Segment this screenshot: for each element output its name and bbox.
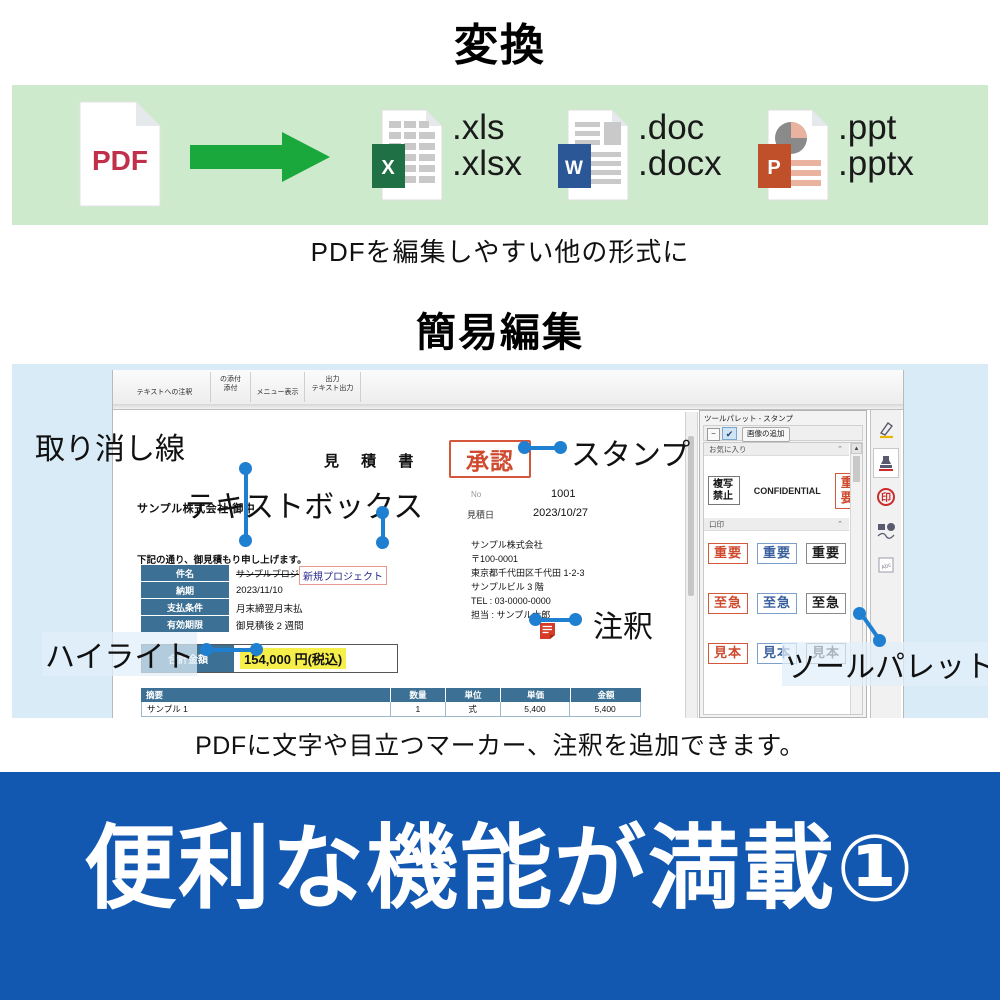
col-header-amount: 金額 xyxy=(571,688,641,702)
scrollbar-thumb[interactable] xyxy=(853,456,860,482)
scroll-up-icon[interactable]: ▲ xyxy=(851,443,862,454)
stamp-important-red[interactable]: 重要 xyxy=(708,543,748,564)
info-value: 御見積後 2 週間 xyxy=(229,617,304,633)
collapse-icon[interactable]: − xyxy=(707,428,720,441)
callout-toolpalette-label: ツールパレット xyxy=(782,642,988,686)
stamp-urgent-black[interactable]: 至急 xyxy=(806,593,846,614)
banner-text: 便利な機能が満載① xyxy=(0,812,1000,927)
svg-text:X: X xyxy=(381,157,395,179)
ribbon-group-menu[interactable]: メニュー表示 xyxy=(251,372,305,402)
info-label: 有効期限 xyxy=(141,616,229,633)
callout-textbox-dot-top xyxy=(376,506,389,519)
ribbon-group-annotate[interactable]: テキストへの注釈 xyxy=(119,372,211,402)
svg-text:P: P xyxy=(767,157,780,179)
tool-palette-toolbar[interactable]: − ✔ 画像の追加 xyxy=(703,425,863,441)
document-heading: 見 積 書 xyxy=(324,450,422,471)
callout-strikethrough-dot-bottom xyxy=(239,534,252,547)
powerpoint-file-icon: P xyxy=(758,108,832,202)
stamp-sample-red[interactable]: 見本 xyxy=(708,643,748,664)
info-label: 支払条件 xyxy=(141,599,229,616)
col-header-unit: 単位 xyxy=(446,688,501,702)
issuer-line: 東京都千代田区千代田 1-2-3 xyxy=(471,566,585,580)
issuer-line: TEL : 03-0000-0000 xyxy=(471,594,585,608)
callout-highlight-label: ハイライト xyxy=(42,632,197,676)
excel-file-icon: X xyxy=(372,108,446,202)
palette-section-label: お気に入り xyxy=(709,444,747,455)
items-table: 摘要 数量 単位 単価 金額 サンプル 1 1 式 5,400 5,400 xyxy=(141,688,641,717)
highlighter-pen-icon[interactable] xyxy=(873,414,899,444)
document-no-value: 1001 xyxy=(551,488,575,500)
word-file-icon: W xyxy=(558,108,632,202)
ribbon-label-attach-top: の添付 xyxy=(216,375,245,384)
callout-textbox-label: テキストボックス xyxy=(182,482,426,526)
callout-stamp-label: スタンプ xyxy=(568,430,693,474)
callout-stamp-dot-left xyxy=(518,441,531,454)
ext-line-2: .docx xyxy=(638,146,722,182)
cell-description: サンプル 1 xyxy=(142,702,391,716)
callout-stamp-dot-right xyxy=(554,441,567,454)
ext-line-2: .xlsx xyxy=(452,146,522,182)
items-table-header: 摘要 数量 単位 単価 金額 xyxy=(141,688,641,702)
ribbon-toolbar[interactable]: テキストへの注釈 の添付 添付 メニュー表示 出力 テキスト出力 xyxy=(113,370,903,405)
text-abc-box-icon[interactable]: Abc xyxy=(873,550,899,580)
palette-section-seal[interactable]: 口印 ⌃ xyxy=(704,518,849,531)
ribbon-group-output[interactable]: 出力 テキスト出力 xyxy=(305,372,361,402)
ext-line-1: .xls xyxy=(452,110,522,146)
callout-annotation-dot-left xyxy=(529,613,542,626)
section-convert-title: 変換 xyxy=(0,22,1000,70)
checkbox-icon[interactable]: ✔ xyxy=(722,427,737,440)
svg-text:PDF: PDF xyxy=(92,145,148,176)
doc-ext-labels: .doc .docx xyxy=(638,110,722,182)
stamp-urgent-red[interactable]: 至急 xyxy=(708,593,748,614)
section-edit-caption: PDFに文字や目立つマーカー、注釈を追加できます。 xyxy=(0,726,1000,762)
chevron-up-icon[interactable]: ⌃ xyxy=(837,520,843,528)
seal-in-circle-icon[interactable]: 印 xyxy=(873,482,899,512)
col-header-description: 摘要 xyxy=(141,688,391,702)
palette-section-label: 口印 xyxy=(709,519,724,530)
callout-annotation-label: 注釈 xyxy=(590,602,656,646)
info-value: 月末締翌月末払 xyxy=(229,600,303,616)
xls-ext-labels: .xls .xlsx xyxy=(452,110,522,182)
palette-section-favorites[interactable]: お気に入り ⌃ xyxy=(704,443,849,456)
table-row: 支払条件 月末締翌月末払 xyxy=(141,599,371,616)
pdf-file-icon: PDF xyxy=(78,100,162,208)
cell-unit: 式 xyxy=(446,702,501,716)
section-convert-caption: PDFを編集しやすい他の形式に xyxy=(0,232,1000,269)
document-no-label: No xyxy=(471,490,481,499)
issuer-line: サンプルビル 3 階 xyxy=(471,580,585,594)
annotation-note-icon[interactable] xyxy=(539,622,556,640)
ext-line-1: .ppt xyxy=(838,110,914,146)
info-value: 2023/11/10 xyxy=(229,583,283,599)
section-edit-title: 簡易編集 xyxy=(0,300,1000,358)
callout-highlight-dot-left xyxy=(200,643,213,656)
ppt-ext-labels: .ppt .pptx xyxy=(838,110,914,182)
ribbon-label-menu: メニュー表示 xyxy=(257,389,299,396)
ext-line-1: .doc xyxy=(638,110,722,146)
stamp-icon[interactable] xyxy=(873,448,899,478)
issuer-line: サンプル株式会社 xyxy=(471,538,585,552)
table-row: 有効期限 御見積後 2 週間 xyxy=(141,616,371,633)
seal-stamp-row[interactable]: 至急 至急 至急 xyxy=(708,593,846,614)
ribbon-label-output: テキスト出力 xyxy=(310,384,355,393)
issuer-line: 〒100-0001 xyxy=(471,552,585,566)
callout-strikethrough-label: 取り消し線 xyxy=(32,424,188,468)
cell-amount: 5,400 xyxy=(570,702,640,716)
stamp-important-black[interactable]: 重要 xyxy=(806,543,846,564)
tool-palette-title: ツールパレット - スタンプ xyxy=(704,413,793,424)
document-lead-text: 下記の通り、御見積もり申し上げます。 xyxy=(137,552,307,566)
callout-toolpalette-dot-bottom xyxy=(873,634,886,647)
callout-toolpalette-dot-top xyxy=(853,607,866,620)
stamp-confidential[interactable]: CONFIDENTIAL xyxy=(749,484,826,498)
favorite-stamp-row[interactable]: 複写禁止 CONFIDENTIAL 重要 xyxy=(708,473,862,509)
ribbon-group-empty xyxy=(361,372,561,402)
shapes-icon[interactable] xyxy=(873,516,899,546)
document-date-label: 見積日 xyxy=(467,508,494,521)
seal-stamp-row[interactable]: 重要 重要 重要 xyxy=(708,543,846,564)
info-label: 件名 xyxy=(141,565,229,582)
poster-page: 変換 PDF xyxy=(0,0,1000,1000)
green-right-arrow-icon xyxy=(190,132,330,182)
bottom-banner: 便利な機能が満載① xyxy=(0,772,1000,1000)
stamp-urgent-blue[interactable]: 至急 xyxy=(757,593,797,614)
callout-strikethrough-dot-top xyxy=(239,462,252,475)
document-date-value: 2023/10/27 xyxy=(533,507,588,519)
add-image-button[interactable]: 画像の追加 xyxy=(742,427,790,442)
ribbon-label-annotate: テキストへの注釈 xyxy=(137,389,193,396)
callout-textbox-dot-bottom xyxy=(376,536,389,549)
svg-text:W: W xyxy=(565,158,583,179)
stamp-no-copy[interactable]: 複写禁止 xyxy=(708,476,740,505)
col-header-qty: 数量 xyxy=(391,688,446,702)
cell-unitprice: 5,400 xyxy=(501,702,571,716)
callout-highlight-dot-right xyxy=(250,643,263,656)
table-row: サンプル 1 1 式 5,400 5,400 xyxy=(141,702,641,717)
ext-line-2: .pptx xyxy=(838,146,914,182)
ribbon-label-attach: 添付 xyxy=(216,384,245,393)
text-box-overlay[interactable]: 新規プロジェクト xyxy=(299,566,387,585)
stamp-important-blue[interactable]: 重要 xyxy=(757,543,797,564)
editor-screenshot-panel: テキストへの注釈 の添付 添付 メニュー表示 出力 テキスト出力 見 積 書 xyxy=(12,364,988,718)
svg-text:印: 印 xyxy=(881,491,891,504)
ribbon-group-attach[interactable]: の添付 添付 xyxy=(211,372,251,402)
callout-annotation-dot-right xyxy=(569,613,582,626)
chevron-up-icon[interactable]: ⌃ xyxy=(837,445,843,453)
ribbon-label-output-top: 出力 xyxy=(310,375,355,384)
cell-qty: 1 xyxy=(391,702,446,716)
issuer-address-block: サンプル株式会社 〒100-0001 東京都千代田区千代田 1-2-3 サンプル… xyxy=(471,538,585,622)
col-header-unitprice: 単価 xyxy=(501,688,571,702)
info-label: 納期 xyxy=(141,582,229,599)
